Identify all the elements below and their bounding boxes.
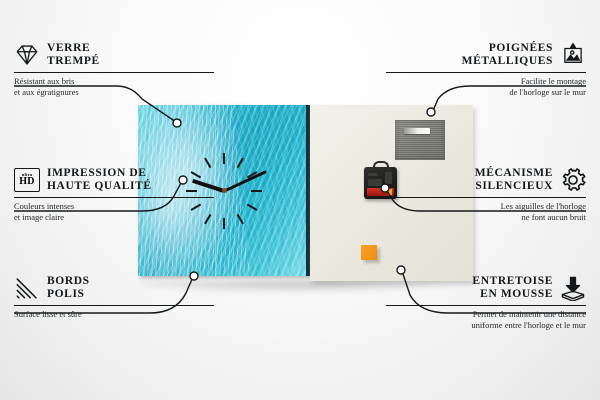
mechanism-detail <box>368 173 378 176</box>
feature-title: MÉCANISME SILENCIEUX <box>475 167 553 193</box>
feature-verre-trempe: VERRE TREMPÉ Résistant aux bris et aux é… <box>14 42 214 97</box>
feature-header: POIGNÉES MÉTALLIQUES <box>386 42 586 68</box>
feature-title: IMPRESSION DE HAUTE QUALITÉ <box>47 167 152 193</box>
clock-center-pin <box>222 188 227 193</box>
feature-description: Facilite le montage de l'horloge sur le … <box>386 76 586 97</box>
feature-mecanisme-silencieux: MÉCANISME SILENCIEUX Les aiguilles de l'… <box>386 167 586 222</box>
metal-bracket-part <box>395 120 445 160</box>
feature-title: VERRE TREMPÉ <box>47 42 100 68</box>
ultra-hd-icon: ultra HD <box>14 168 40 192</box>
feature-poignees-metalliques: POIGNÉES MÉTALLIQUES Facilite le montage… <box>386 42 586 97</box>
feature-divider <box>14 305 214 306</box>
mechanism-detail <box>368 179 382 186</box>
feature-divider <box>386 197 586 198</box>
picture-frame-icon <box>560 42 586 68</box>
feature-header: VERRE TREMPÉ <box>14 42 214 68</box>
feature-title: BORDS POLIS <box>47 275 90 301</box>
arrow-down-pad-icon <box>560 275 586 301</box>
feature-header: BORDS POLIS <box>14 275 214 301</box>
feature-description: Permet de maintenir une distance uniform… <box>386 309 586 330</box>
feature-description: Les aiguilles de l'horloge ne font aucun… <box>386 201 586 222</box>
clock-face-panel <box>138 105 310 276</box>
diamond-icon <box>14 42 40 68</box>
feature-title: POIGNÉES MÉTALLIQUES <box>462 42 553 68</box>
feature-divider <box>386 72 586 73</box>
diagonal-lines-icon <box>14 275 40 301</box>
feature-divider <box>14 72 214 73</box>
foam-spacer-part <box>361 245 377 260</box>
clock-dial <box>138 105 310 276</box>
feature-description: Résistant aux bris et aux égratignures <box>14 76 214 97</box>
bracket-slot <box>404 128 430 134</box>
feature-header: MÉCANISME SILENCIEUX <box>386 167 586 193</box>
infographic-stage: VERRE TREMPÉ Résistant aux bris et aux é… <box>0 0 600 400</box>
feature-description: Surface lisse et sûre <box>14 309 214 320</box>
feature-bords-polis: BORDS POLIS Surface lisse et sûre <box>14 275 214 320</box>
feature-divider <box>386 305 586 306</box>
feature-title: ENTRETOISE EN MOUSSE <box>472 275 553 301</box>
feature-entretoise-en-mousse: ENTRETOISE EN MOUSSE Permet de maintenir… <box>386 275 586 330</box>
gear-icon <box>560 167 586 193</box>
feature-header: ENTRETOISE EN MOUSSE <box>386 275 586 301</box>
